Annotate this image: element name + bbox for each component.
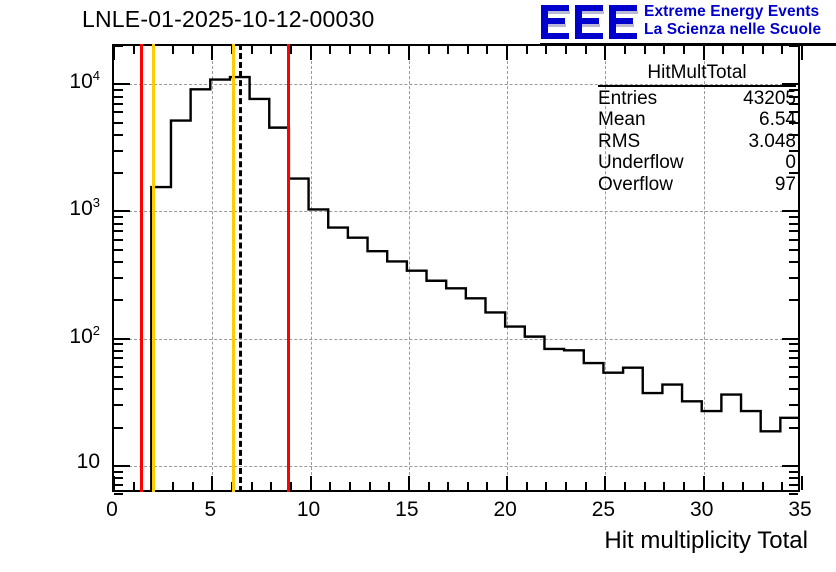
stats-row-value: 6.54 [759, 109, 796, 131]
stats-box: HitMultTotal Entries43205Mean6.54RMS3.04… [598, 62, 796, 195]
eee-logo-mark [540, 4, 640, 40]
mean-marker [239, 44, 242, 492]
stats-row-value: 43205 [743, 88, 796, 110]
stats-row-value: 97 [775, 174, 796, 196]
x-axis-tick-label: 30 [672, 498, 732, 522]
y-axis-tick-label: 103 [0, 195, 100, 221]
eee-logo-line1: Extreme Energy Events [644, 3, 821, 21]
x-axis-tick-label: 10 [279, 498, 339, 522]
stats-title: HitMultTotal [598, 62, 796, 87]
stats-rows: Entries43205Mean6.54RMS3.048Underflow0Ov… [598, 88, 796, 196]
x-axis-tick [801, 46, 803, 60]
red-high-limit [287, 44, 290, 492]
red-low-limit [140, 44, 143, 492]
page-title: LNLE-01-2025-10-12-00030 [82, 6, 375, 33]
y-axis-tick [114, 493, 123, 495]
x-axis-tick-label: 15 [377, 498, 437, 522]
eee-logo: Extreme Energy Events La Scienza nelle S… [540, 2, 836, 44]
x-axis-tick-label: 20 [475, 498, 535, 522]
stats-row-value: 3.048 [748, 131, 796, 153]
x-axis-title: Hit multiplicity Total [604, 527, 808, 555]
stats-row: Underflow0 [598, 152, 796, 174]
x-axis-tick-label: 5 [180, 498, 240, 522]
stats-row-value: 0 [785, 152, 796, 174]
x-axis-tick [801, 476, 803, 490]
x-axis-tick-label: 25 [573, 498, 633, 522]
x-axis-tick-label: 0 [82, 498, 142, 522]
stats-row-label: Underflow [598, 152, 684, 174]
gold-high-limit [232, 44, 235, 492]
stats-row: RMS3.048 [598, 131, 796, 153]
stats-row-label: Mean [598, 109, 646, 131]
y-axis-tick-label: 102 [0, 323, 100, 349]
stats-row: Mean6.54 [598, 109, 796, 131]
gold-low-limit [152, 44, 155, 492]
x-axis-tick-label: 35 [770, 498, 830, 522]
y-axis-tick [789, 493, 798, 495]
y-axis-tick-label: 10 [0, 450, 100, 474]
eee-logo-line2: La Scienza nelle Scuole [644, 21, 821, 39]
stats-row-label: Entries [598, 88, 657, 110]
stats-row-label: Overflow [598, 174, 673, 196]
y-axis-tick-label: 104 [0, 68, 100, 94]
stats-row-label: RMS [598, 131, 640, 153]
stats-row: Entries43205 [598, 88, 796, 110]
eee-logo-text: Extreme Energy Events La Scienza nelle S… [644, 3, 821, 39]
stats-row: Overflow97 [598, 174, 796, 196]
root-canvas: LNLE-01-2025-10-12-00030 [0, 0, 836, 572]
